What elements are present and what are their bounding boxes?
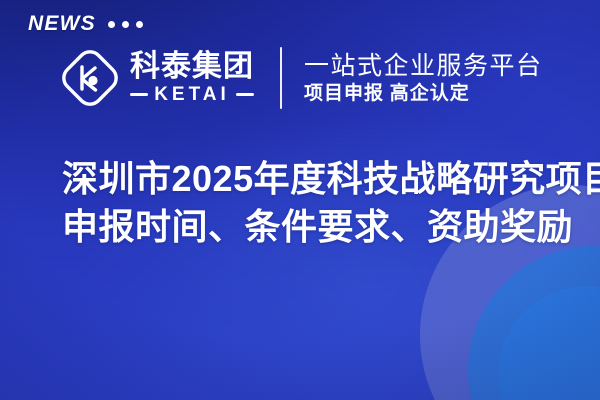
tagline-primary: 一站式企业服务平台 (304, 54, 543, 79)
wordmark-rule-right (236, 93, 254, 96)
brand-name-cn: 科泰集团 (130, 52, 254, 83)
news-label: NEWS (28, 13, 96, 34)
brand-name-en: KETAI (154, 85, 230, 104)
eyebrow: NEWS (28, 13, 143, 34)
tagline-secondary: 项目申报 高企认定 (304, 84, 543, 103)
headline: 深圳市2025年度科技战略研究项目 申报时间、条件要求、资助奖励 (62, 155, 562, 251)
brand-band: 科泰集团 KETAI 一站式企业服务平台 项目申报 高企认定 (62, 44, 543, 112)
brand-wordmark: 科泰集团 KETAI (130, 52, 254, 104)
wordmark-rule-left (130, 93, 148, 96)
brand-name-en-row: KETAI (130, 85, 254, 104)
headline-line-2: 申报时间、条件要求、资助奖励 (62, 203, 562, 251)
news-banner: NEWS 科泰集团 KETAI (0, 0, 600, 400)
ketai-diamond-monogram-icon (62, 50, 118, 106)
headline-line-1: 深圳市2025年度科技战略研究项目 (62, 155, 562, 203)
tagline-block: 一站式企业服务平台 项目申报 高企认定 (304, 54, 543, 103)
three-dots-icon (108, 21, 143, 28)
brand-lockup: 科泰集团 KETAI (62, 50, 254, 106)
vertical-divider-icon (280, 47, 282, 109)
